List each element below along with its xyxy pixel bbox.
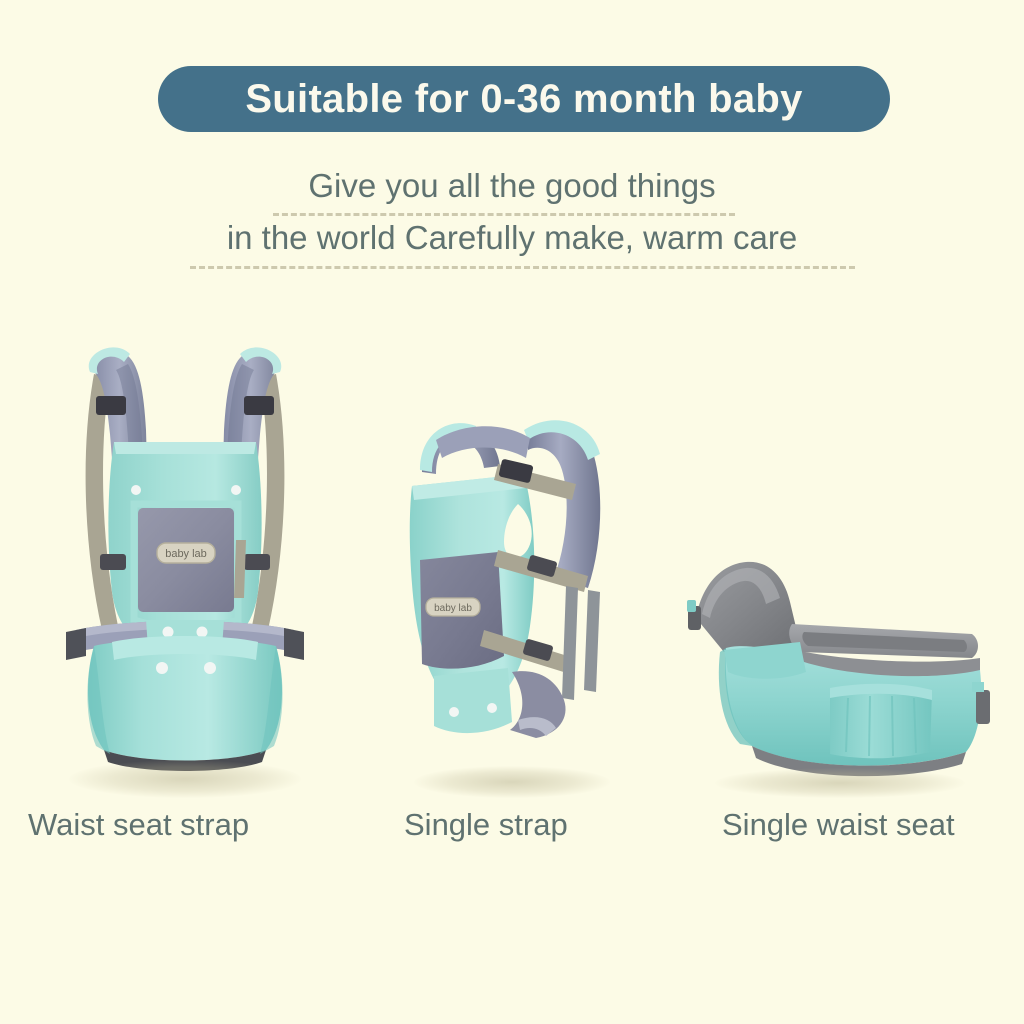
product-image-waist-seat-strap: baby lab bbox=[40, 330, 330, 800]
brand-label-text: baby lab bbox=[165, 548, 207, 560]
brand-label-text: baby lab bbox=[434, 603, 472, 614]
headline-banner: Suitable for 0-36 month baby bbox=[158, 66, 890, 132]
snap-seat-right bbox=[204, 662, 216, 674]
buckle-left-top bbox=[96, 396, 126, 415]
belt-end-right bbox=[284, 628, 304, 660]
product-gallery: baby lab bbox=[0, 300, 1024, 800]
subtitle-line-2: in the world Carefully make, warm care bbox=[0, 212, 1024, 264]
buckle-left-mid bbox=[100, 554, 126, 570]
product-shadow bbox=[414, 766, 610, 798]
brand-label: baby lab bbox=[157, 543, 215, 563]
body-top-hem bbox=[114, 442, 256, 454]
snap-right-upper bbox=[231, 485, 241, 495]
webbing-tail-outer bbox=[584, 590, 600, 692]
product-image-single-waist-seat bbox=[680, 540, 1000, 800]
caption-waist-seat-strap: Waist seat strap bbox=[28, 805, 249, 845]
dashed-divider-lower bbox=[190, 266, 855, 269]
snap-connector-left bbox=[163, 627, 174, 638]
subtitle-line-1: Give you all the good things bbox=[0, 160, 1024, 212]
subtitle-block: Give you all the good things in the worl… bbox=[0, 160, 1024, 264]
headline-text: Suitable for 0-36 month baby bbox=[245, 79, 802, 119]
buckle-right-top bbox=[244, 396, 274, 415]
bottom-flap bbox=[434, 668, 512, 733]
snap-flap-left bbox=[449, 707, 459, 717]
side-strap-loop bbox=[976, 690, 990, 724]
infographic-page: Suitable for 0-36 month baby Give you al… bbox=[0, 0, 1024, 1024]
webbing-tail-inner bbox=[562, 586, 578, 700]
snap-flap-right bbox=[487, 703, 497, 713]
caption-single-waist-seat: Single waist seat bbox=[722, 805, 955, 845]
product-shadow bbox=[69, 760, 301, 798]
product-shadow bbox=[715, 768, 965, 798]
adjust-strap-right bbox=[234, 540, 246, 598]
hip-seat-side-illustration bbox=[680, 540, 1000, 788]
snap-connector-right bbox=[197, 627, 208, 638]
carrier-angled-illustration: baby lab bbox=[378, 400, 646, 782]
brand-label: baby lab bbox=[426, 598, 480, 616]
backrest-loop bbox=[687, 600, 696, 612]
buckle-right-mid bbox=[244, 554, 270, 570]
snap-left-upper bbox=[131, 485, 141, 495]
carrier-front-illustration: baby lab bbox=[40, 330, 330, 780]
side-strap-mint-tab bbox=[972, 682, 984, 692]
belt-end-left bbox=[66, 628, 86, 660]
product-image-single-strap: baby lab bbox=[378, 400, 646, 800]
caption-single-strap: Single strap bbox=[404, 805, 568, 845]
snap-seat-left bbox=[156, 662, 168, 674]
dashed-divider-upper bbox=[273, 213, 735, 216]
